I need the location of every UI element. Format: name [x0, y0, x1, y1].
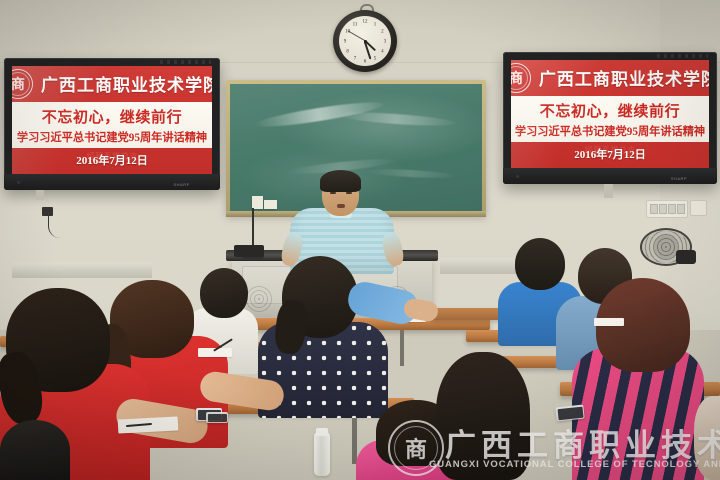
power-led-icon: [17, 181, 20, 184]
right-display[interactable]: 商 广西工商职业技术学院 不忘初心，继续前行 学习习近平总书记建党95周年讲话精…: [503, 52, 717, 184]
clock-numeral: 7: [354, 57, 357, 62]
photo-canvas: 121234567891011 商 广西工商职业技术学院 不忘初心，继续前行 学…: [0, 0, 720, 480]
college-seal-icon: 商: [12, 69, 33, 99]
clock-numeral: 1: [374, 22, 377, 27]
presenter-hair: [320, 170, 361, 192]
right-school-name: 广西工商职业技术学院: [539, 65, 709, 90]
right-slide-line1: 不忘初心，继续前行: [511, 100, 709, 121]
clock-face: 121234567891011: [339, 16, 391, 66]
smartphone[interactable]: [555, 405, 584, 422]
clock-numeral: 6: [364, 60, 367, 65]
clock-numeral: 8: [346, 50, 349, 55]
left-display-panel: 商 广西工商职业技术学院 不忘初心，继续前行 学习习近平总书记建党95周年讲话精…: [12, 66, 212, 174]
right-slide-line2: 学习习近平总书记建党95周年讲话精神: [511, 123, 709, 139]
left-slide-header: 商 广西工商职业技术学院: [12, 66, 212, 102]
right-slide: 商 广西工商职业技术学院 不忘初心，继续前行 学习习近平总书记建党95周年讲话精…: [511, 60, 709, 168]
left-slide-line1: 不忘初心，继续前行: [12, 106, 212, 127]
right-display-panel: 商 广西工商职业技术学院 不忘初心，继续前行 学习习近平总书记建党95周年讲话精…: [511, 60, 709, 168]
left-slide-date: 2016年7月12日: [12, 152, 212, 168]
right-display-chin: SHARP: [503, 168, 717, 184]
wall-fan: [640, 228, 692, 266]
paper-sheet: [594, 318, 624, 326]
clock-numeral: 12: [363, 20, 368, 25]
clock-numeral: 9: [344, 40, 347, 45]
clock-numeral: 4: [381, 50, 384, 55]
left-tv-mount: [36, 190, 44, 200]
clock-numeral: 3: [384, 40, 387, 45]
college-seal-icon: 商: [511, 63, 531, 93]
right-display-brand: SHARP: [671, 176, 687, 181]
wall-switch-single[interactable]: [690, 200, 707, 216]
clock-numeral: 2: [381, 30, 384, 35]
speaker-grille-icon: [246, 286, 272, 312]
wall-clock: 121234567891011: [333, 10, 397, 72]
right-slide-body: 不忘初心，继续前行 学习习近平总书记建党95周年讲话精神 经管系党总支: [511, 96, 709, 142]
left-display[interactable]: 商 广西工商职业技术学院 不忘初心，继续前行 学习习近平总书记建党95周年讲话精…: [4, 58, 220, 190]
tv-button-row[interactable]: [657, 54, 708, 58]
clock-numeral: 5: [374, 57, 377, 62]
right-slide-date: 2016年7月12日: [511, 146, 709, 162]
clock-center-pin: [364, 40, 367, 43]
left-slide: 商 广西工商职业技术学院 不忘初心，继续前行 学习习近平总书记建党95周年讲话精…: [12, 66, 212, 174]
left-school-name: 广西工商职业技术学院: [41, 71, 212, 96]
clock-numeral: 11: [353, 22, 358, 27]
water-bottle: [314, 432, 330, 476]
right-slide-header: 商 广西工商职业技术学院: [511, 60, 709, 96]
tv-button-row[interactable]: [160, 60, 212, 64]
fan-motor: [676, 250, 696, 264]
smartphone[interactable]: [206, 412, 228, 423]
left-display-brand: SHARP: [173, 182, 189, 187]
bottle-cap: [316, 428, 328, 436]
left-slide-body: 不忘初心，继续前行 学习习近平总书记建党95周年讲话精神 经管系党总支: [12, 102, 212, 148]
power-led-icon: [516, 175, 519, 178]
left-slide-line2: 学习习近平总书记建党95周年讲话精神: [12, 129, 212, 145]
right-tv-mount: [604, 184, 613, 198]
left-display-chin: SHARP: [4, 174, 220, 190]
left-side-desk: [12, 262, 152, 278]
wall-switch-panel[interactable]: [646, 200, 688, 218]
board-card: [264, 200, 277, 209]
chair-back: [430, 308, 502, 320]
power-cable: [48, 212, 69, 238]
av-equipment: [234, 245, 264, 257]
clock-numeral: 10: [345, 30, 350, 35]
